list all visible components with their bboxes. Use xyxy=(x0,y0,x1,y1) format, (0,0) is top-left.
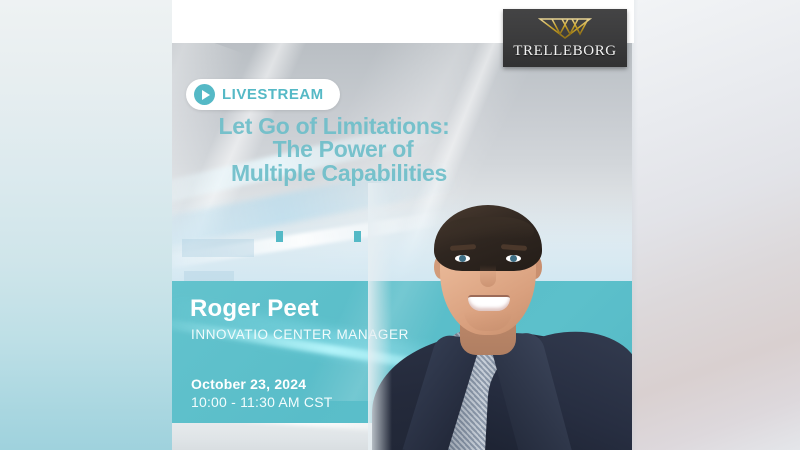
background-left-gradient xyxy=(0,0,190,450)
accent-tick xyxy=(354,231,361,242)
portrait-nose xyxy=(480,265,496,287)
trelleborg-triangle-icon xyxy=(538,17,592,39)
poster-headline: Let Go of Limitations: The Power of Mult… xyxy=(172,115,496,185)
headline-line-2: The Power of xyxy=(190,138,496,161)
speaker-name: Roger Peet xyxy=(190,297,319,321)
event-date: October 23, 2024 xyxy=(191,377,306,391)
background-right-gradient xyxy=(624,0,800,450)
play-triangle-icon xyxy=(202,90,210,100)
livestream-label: LIVESTREAM xyxy=(222,87,324,102)
speaker-portrait xyxy=(368,183,632,450)
livestream-badge[interactable]: LIVESTREAM xyxy=(186,79,340,110)
event-time: 10:00 - 11:30 AM CST xyxy=(191,395,332,409)
accent-block xyxy=(182,239,254,257)
headline-line-1: Let Go of Limitations: xyxy=(172,115,496,138)
poster-screenshot: LIVESTREAM Let Go of Limitations: The Po… xyxy=(0,0,800,450)
portrait-mouth xyxy=(468,295,510,311)
headline-line-3: Multiple Capabilities xyxy=(182,162,496,185)
play-circle-icon xyxy=(194,84,215,105)
trelleborg-wordmark: TRELLEBORG xyxy=(513,44,617,59)
trelleborg-logo: TRELLEBORG xyxy=(503,9,627,67)
portrait-eye-left xyxy=(455,255,470,262)
accent-tick xyxy=(276,231,283,242)
poster-card: LIVESTREAM Let Go of Limitations: The Po… xyxy=(172,43,632,450)
portrait-eye-right xyxy=(506,255,521,262)
portrait-edge-fade xyxy=(368,183,392,450)
portrait-hairline xyxy=(442,217,534,239)
